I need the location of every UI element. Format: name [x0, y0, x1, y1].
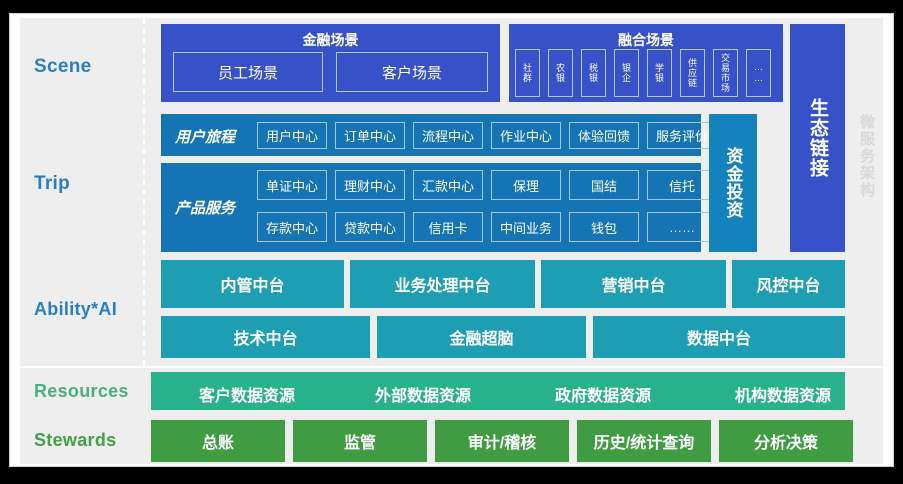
ability-row2-item-1[interactable]: 金融超脑	[377, 316, 586, 358]
resources-item-3[interactable]: 机构数据资源	[693, 382, 873, 406]
scene-financial-item-0[interactable]: 员工场景	[173, 52, 323, 92]
stewards-item-4[interactable]: 分析决策	[719, 420, 853, 462]
row-label-trip: Trip	[20, 114, 140, 254]
trip-journey-item-3[interactable]: 作业中心	[491, 122, 561, 149]
scene-fusion-item-4[interactable]: 学银	[647, 49, 672, 97]
resources-item-1[interactable]: 外部数据资源	[333, 382, 513, 406]
row-label-stewards: Stewards	[20, 418, 140, 462]
scene-fusion-title: 融合场景	[509, 30, 783, 50]
trip-journey-caption: 用户旅程	[175, 126, 235, 147]
ability-row1-item-1[interactable]: 业务处理中台	[350, 260, 535, 308]
scene-fusion-item-0[interactable]: 社群	[515, 49, 540, 97]
label-divider	[143, 18, 145, 366]
stewards-item-3[interactable]: 历史/统计查询	[577, 420, 711, 462]
trip-journey-item-1[interactable]: 订单中心	[335, 122, 405, 149]
scene-fusion-panel[interactable]: 融合场景 社群 农银 税银 银企 学银 供应链 交易市场 ……	[509, 24, 783, 102]
scene-fusion-item-2[interactable]: 税银	[581, 49, 606, 97]
trip-product-row2-3[interactable]: 中间业务	[491, 212, 561, 242]
trip-product-row1-5[interactable]: 信托	[647, 170, 717, 200]
resources-panel[interactable]: 客户数据资源 外部数据资源 政府数据资源 机构数据资源	[151, 372, 845, 410]
trip-product-row1-4[interactable]: 国结	[569, 170, 639, 200]
scene-financial-item-1[interactable]: 客户场景	[336, 52, 488, 92]
trip-journey-item-0[interactable]: 用户中心	[257, 122, 327, 149]
scene-fusion-item-1[interactable]: 农银	[548, 49, 573, 97]
diagram-canvas: Scene Trip Ability*AI Resources Stewards…	[20, 18, 883, 464]
row-label-resources: Resources	[20, 370, 140, 412]
ability-row1-item-2[interactable]: 营销中台	[541, 260, 726, 308]
scene-fusion-item-6[interactable]: 交易市场	[713, 49, 738, 97]
trip-product-row2-1[interactable]: 贷款中心	[335, 212, 405, 242]
scene-fusion-item-5[interactable]: 供应链	[680, 49, 705, 97]
trip-product-row2-2[interactable]: 信用卡	[413, 212, 483, 242]
ability-row2-item-0[interactable]: 技术中台	[161, 316, 370, 358]
trip-journey-item-2[interactable]: 流程中心	[413, 122, 483, 149]
stewards-item-1[interactable]: 监管	[293, 420, 427, 462]
trip-products-panel[interactable]: 产品服务 单证中心 理财中心 汇款中心 保理 国结 信托 存款中心 贷款中心 信…	[161, 163, 701, 252]
trip-journey-item-5[interactable]: 服务评价	[647, 122, 717, 149]
trip-products-caption: 产品服务	[175, 197, 235, 218]
trip-product-row2-5[interactable]: ……	[647, 212, 717, 242]
ability-row1-item-0[interactable]: 内管中台	[161, 260, 344, 308]
trip-journey-item-4[interactable]: 体验回馈	[569, 122, 639, 149]
microservice-architecture-label: 微服务架构	[856, 114, 877, 264]
ability-row2-item-2[interactable]: 数据中台	[593, 316, 845, 358]
ability-row1-item-3[interactable]: 风控中台	[732, 260, 845, 308]
trip-product-row2-4[interactable]: 钱包	[569, 212, 639, 242]
stewards-item-0[interactable]: 总账	[151, 420, 285, 462]
fund-investment-panel[interactable]: 资金投资	[709, 114, 757, 252]
scene-financial-title: 金融场景	[161, 30, 500, 50]
trip-journey-panel[interactable]: 用户旅程 用户中心 订单中心 流程中心 作业中心 体验回馈 服务评价	[161, 114, 701, 156]
resources-item-0[interactable]: 客户数据资源	[161, 382, 333, 406]
trip-product-row1-2[interactable]: 汇款中心	[413, 170, 483, 200]
ecosystem-link-panel[interactable]: 生态链接	[790, 24, 845, 252]
stewards-item-2[interactable]: 审计/稽核	[435, 420, 569, 462]
trip-product-row1-3[interactable]: 保理	[491, 170, 561, 200]
diagram-frame: Scene Trip Ability*AI Resources Stewards…	[10, 14, 893, 466]
scene-fusion-item-7[interactable]: ……	[746, 49, 771, 97]
trip-product-row1-1[interactable]: 理财中心	[335, 170, 405, 200]
scene-financial-panel[interactable]: 金融场景 员工场景 客户场景	[161, 24, 500, 102]
trip-product-row1-0[interactable]: 单证中心	[257, 170, 327, 200]
resources-item-2[interactable]: 政府数据资源	[513, 382, 693, 406]
row-label-scene: Scene	[20, 24, 140, 110]
scene-fusion-item-3[interactable]: 银企	[614, 49, 639, 97]
trip-product-row2-0[interactable]: 存款中心	[257, 212, 327, 242]
row-label-ability: Ability*AI	[20, 256, 140, 362]
